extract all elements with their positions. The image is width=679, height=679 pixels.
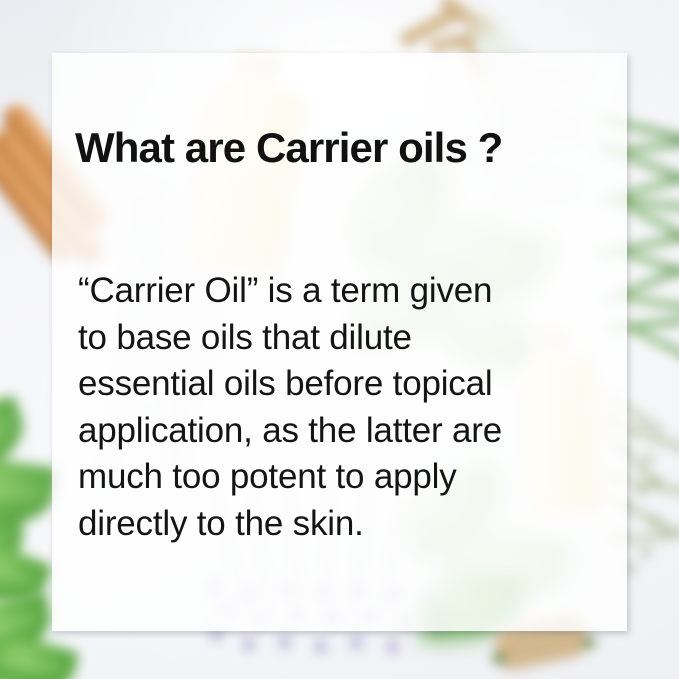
body-line: application, as the latter are <box>78 408 614 455</box>
content-card: What are Carrier oils ? “Carrier Oil” is… <box>52 53 627 631</box>
body-line: to base oils that dilute <box>78 315 614 362</box>
body-line: essential oils before topical <box>78 361 614 408</box>
body-line: much too potent to apply <box>78 454 614 501</box>
infographic-image: What are Carrier oils ? “Carrier Oil” is… <box>0 0 679 679</box>
body-paragraph: “Carrier Oil” is a term given to base oi… <box>78 268 614 547</box>
body-line: “Carrier Oil” is a term given <box>78 268 614 315</box>
page-title: What are Carrier oils ? <box>75 124 502 172</box>
body-line: directly to the skin. <box>78 501 614 548</box>
